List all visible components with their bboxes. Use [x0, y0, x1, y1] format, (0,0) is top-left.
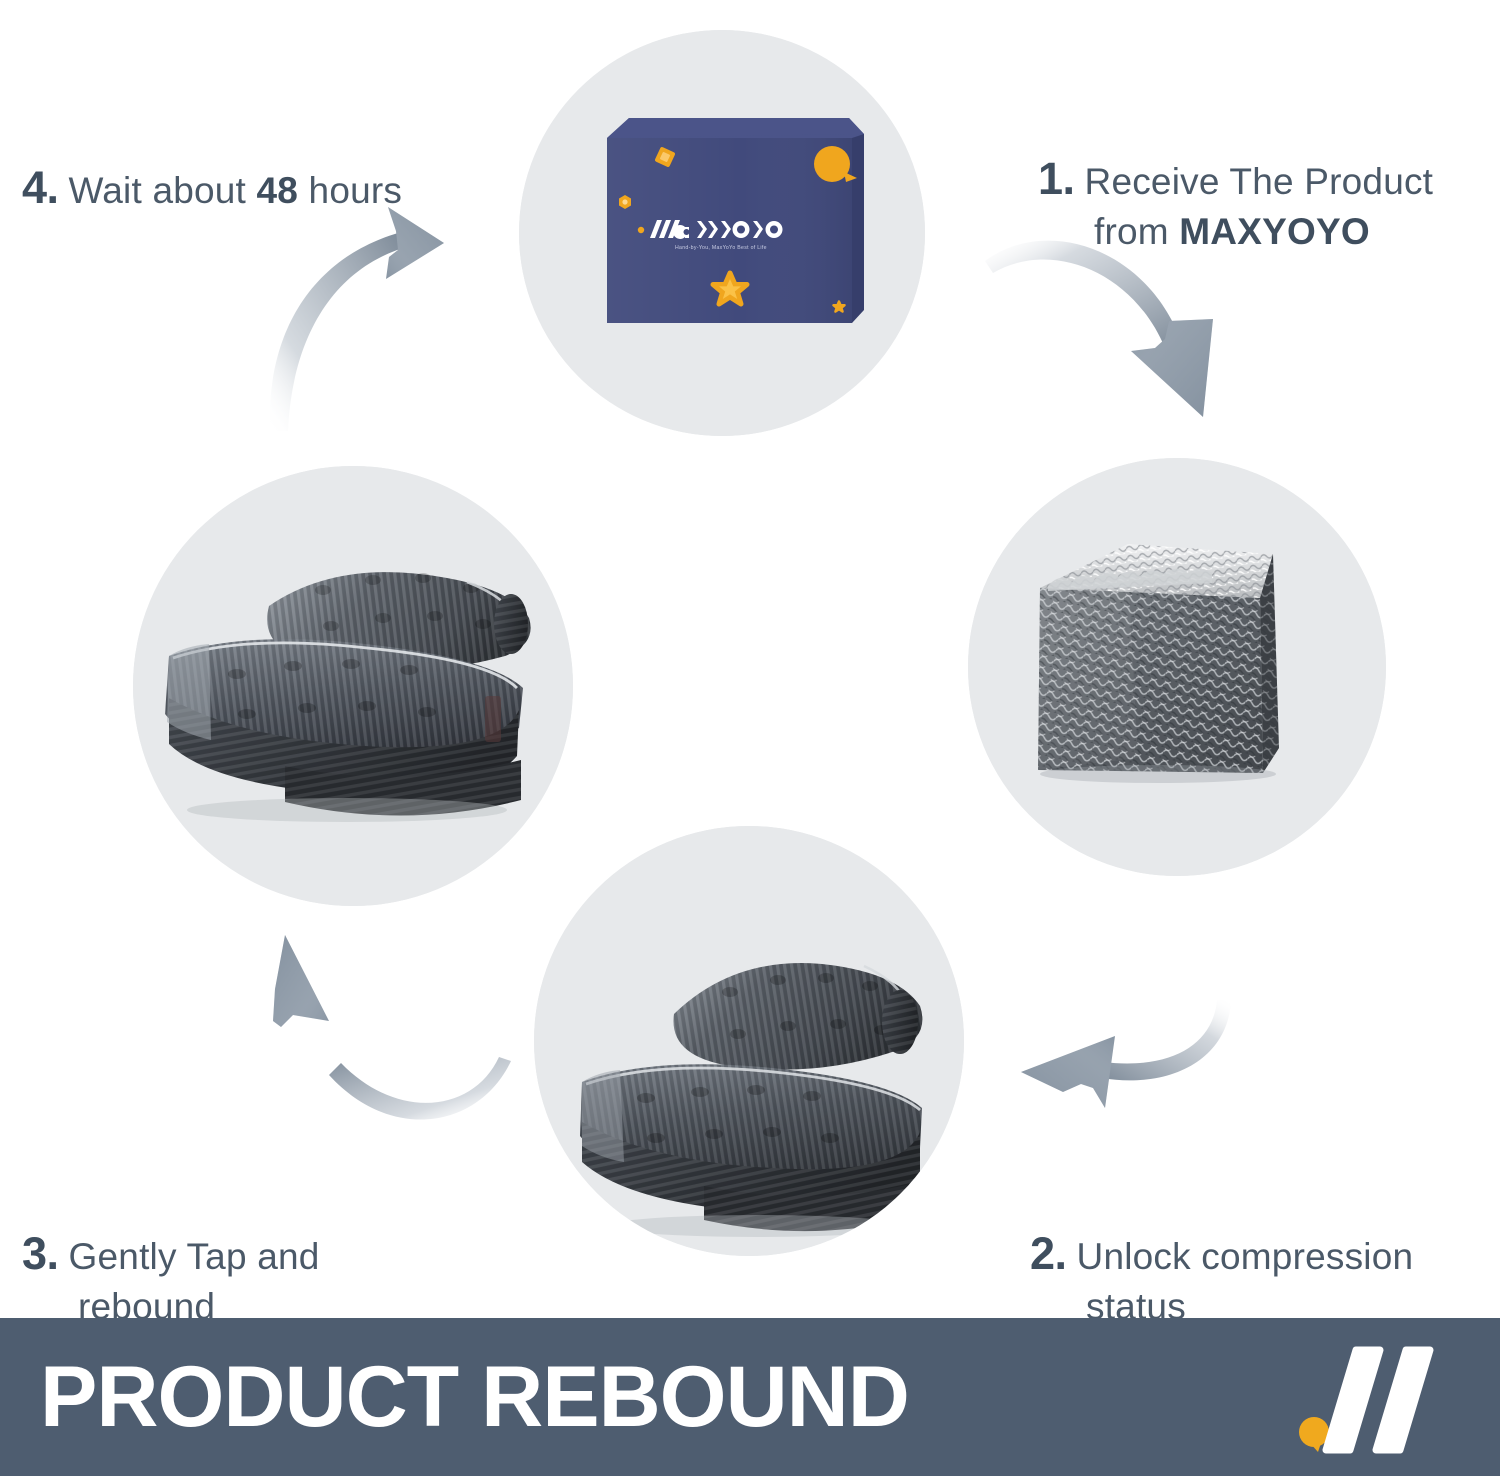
fully-rebounded-mattress-photo — [133, 466, 573, 906]
arrow-step1-to-step2 — [955, 215, 1265, 445]
arrow-step4-to-step1 — [248, 185, 538, 435]
partially-expanded-mattress-photo — [534, 826, 964, 1256]
step-2-image-circle — [968, 458, 1386, 876]
step-3-image-circle — [534, 826, 964, 1256]
shipping-box-photo: Hand-by-You, MaxYoYo Best of Life — [519, 30, 925, 436]
step-3-line1: Gently Tap and — [69, 1236, 320, 1277]
arrow-step2-to-step3 — [955, 1000, 1245, 1175]
step-4-number: 4. — [22, 162, 59, 213]
box-tagline: Hand-by-You, MaxYoYo Best of Life — [675, 245, 767, 251]
step-1-image-circle: Hand-by-You, MaxYoYo Best of Life — [519, 30, 925, 436]
step-1-line1: Receive The Product — [1085, 161, 1434, 202]
footer-banner: PRODUCT REBOUND — [0, 1318, 1500, 1476]
step-4-text-prefix: Wait about — [69, 170, 257, 211]
step-3-number: 3. — [22, 1228, 59, 1279]
step-2-line1: Unlock compression — [1077, 1236, 1414, 1277]
step-2-number: 2. — [1030, 1228, 1067, 1279]
banner-title: PRODUCT REBOUND — [40, 1348, 909, 1447]
step-1-number: 1. — [1038, 153, 1075, 204]
infographic-page: 4.Wait about 48 hours 1.Receive The Prod… — [0, 0, 1500, 1476]
compressed-block-photo — [968, 458, 1386, 876]
step-4-image-circle — [133, 466, 573, 906]
arrow-step3-to-step4 — [245, 925, 535, 1155]
logo-white-bars-icon — [1326, 1350, 1430, 1450]
maxyoyo-logo-mark — [1288, 1332, 1478, 1464]
